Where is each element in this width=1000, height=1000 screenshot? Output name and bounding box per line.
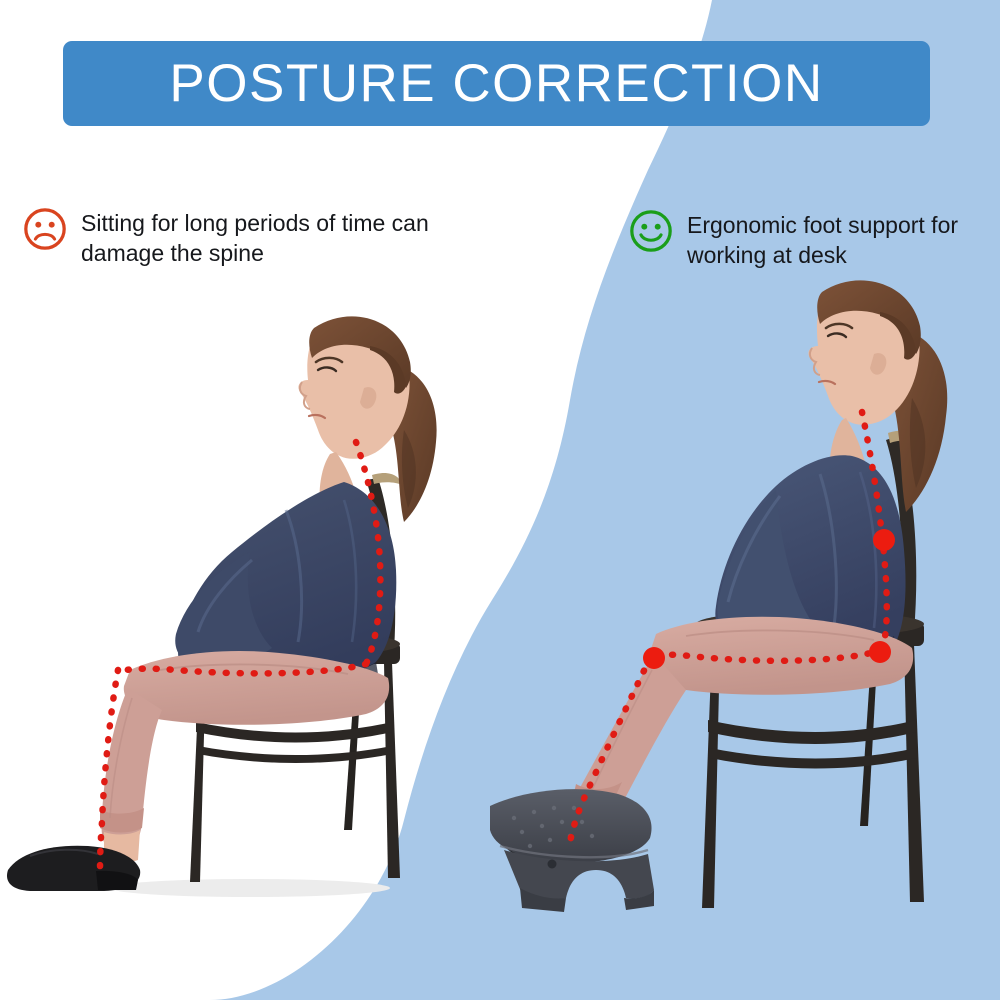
page-title: POSTURE CORRECTION xyxy=(169,57,823,110)
left-caption-line-2: damage the spine xyxy=(81,239,429,269)
joint-marker-knee xyxy=(643,647,665,669)
left-caption-text: Sitting for long periods of time can dam… xyxy=(81,206,429,269)
joint-marker-hip xyxy=(869,641,891,663)
right-caption-line-1: Ergonomic foot support for xyxy=(687,211,958,241)
infographic-canvas: POSTURE CORRECTION Sitting for long peri… xyxy=(0,0,1000,1000)
right-figure-photo xyxy=(500,250,1000,950)
footrest xyxy=(490,789,654,912)
joint-marker-back xyxy=(873,529,895,551)
left-caption-line-1: Sitting for long periods of time can xyxy=(81,209,429,239)
left-caption-block: Sitting for long periods of time can dam… xyxy=(22,206,492,269)
smiley-face-icon xyxy=(628,208,674,254)
sad-face-icon xyxy=(22,206,68,252)
floor-shadow xyxy=(110,879,390,897)
left-figure-photo xyxy=(0,270,470,910)
title-banner: POSTURE CORRECTION xyxy=(63,41,930,126)
